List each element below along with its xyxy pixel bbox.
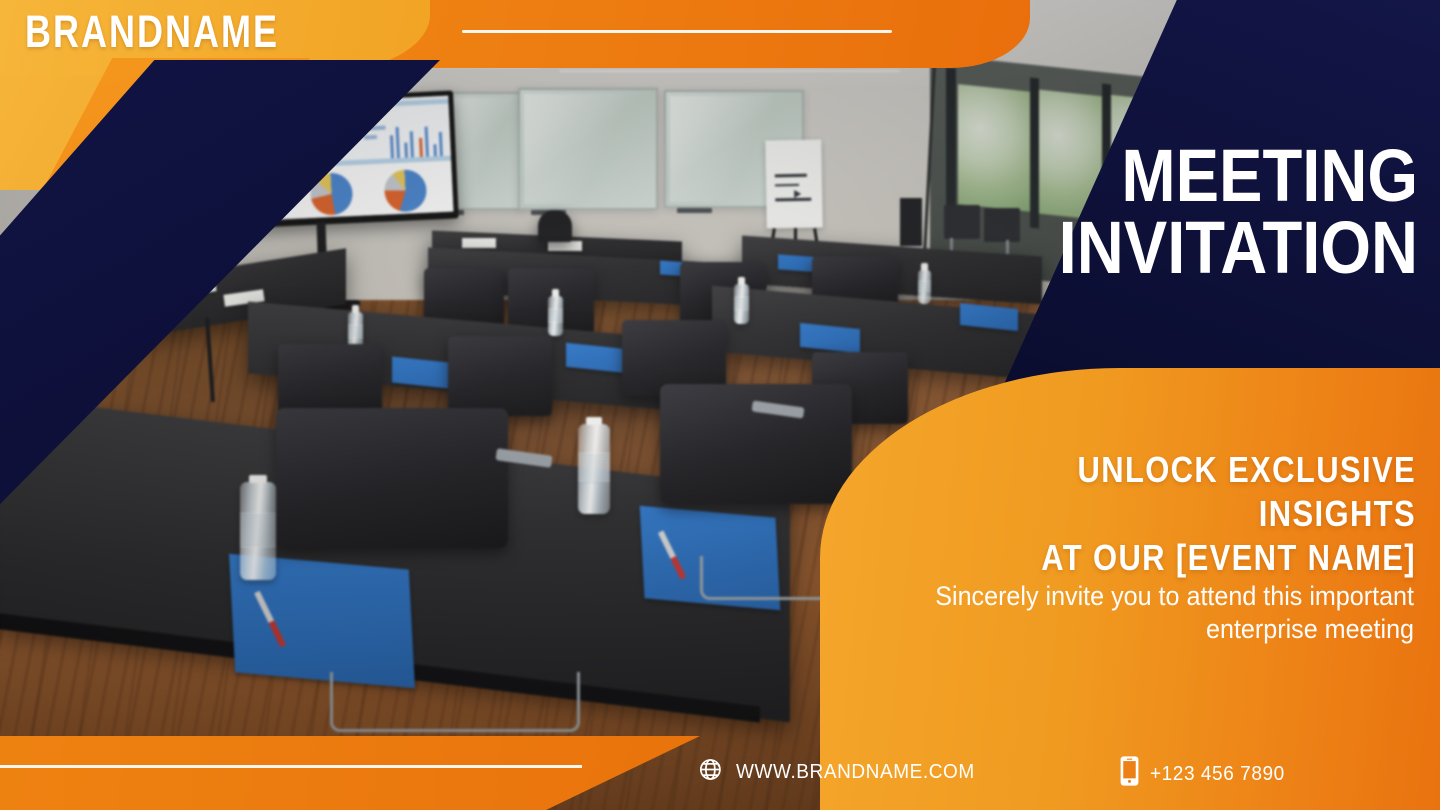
phone-contact[interactable]: +123 456 7890 xyxy=(1120,756,1292,792)
headline-line-1: UNLOCK EXCLUSIVE INSIGHTS xyxy=(917,448,1416,536)
mobile-phone-icon xyxy=(1120,756,1139,792)
meeting-invitation-poster: BRANDNAME MEETING INVITATION UNLOCK EXCL… xyxy=(0,0,1440,810)
event-headline: UNLOCK EXCLUSIVE INSIGHTS AT OUR [EVENT … xyxy=(836,448,1416,580)
title-line-2: INVITATION xyxy=(1004,212,1418,284)
invitation-body-text: Sincerely invite you to attend this impo… xyxy=(794,580,1414,646)
brand-logo-text: BRANDNAME xyxy=(25,9,279,54)
top-divider-line xyxy=(462,30,892,33)
globe-icon xyxy=(698,756,725,789)
page-title: MEETING INVITATION xyxy=(948,140,1418,284)
title-line-1: MEETING xyxy=(1004,140,1418,212)
body-line-2: enterprise meeting xyxy=(837,613,1414,646)
contact-row: WWW.BRANDNAME.COM +123 456 7890 xyxy=(0,752,1440,796)
website-contact[interactable]: WWW.BRANDNAME.COM xyxy=(698,756,987,789)
body-line-1: Sincerely invite you to attend this impo… xyxy=(837,580,1414,613)
headline-line-2: AT OUR [EVENT NAME] xyxy=(917,536,1416,580)
phone-label: +123 456 7890 xyxy=(1150,763,1285,786)
website-label: WWW.BRANDNAME.COM xyxy=(736,761,975,784)
